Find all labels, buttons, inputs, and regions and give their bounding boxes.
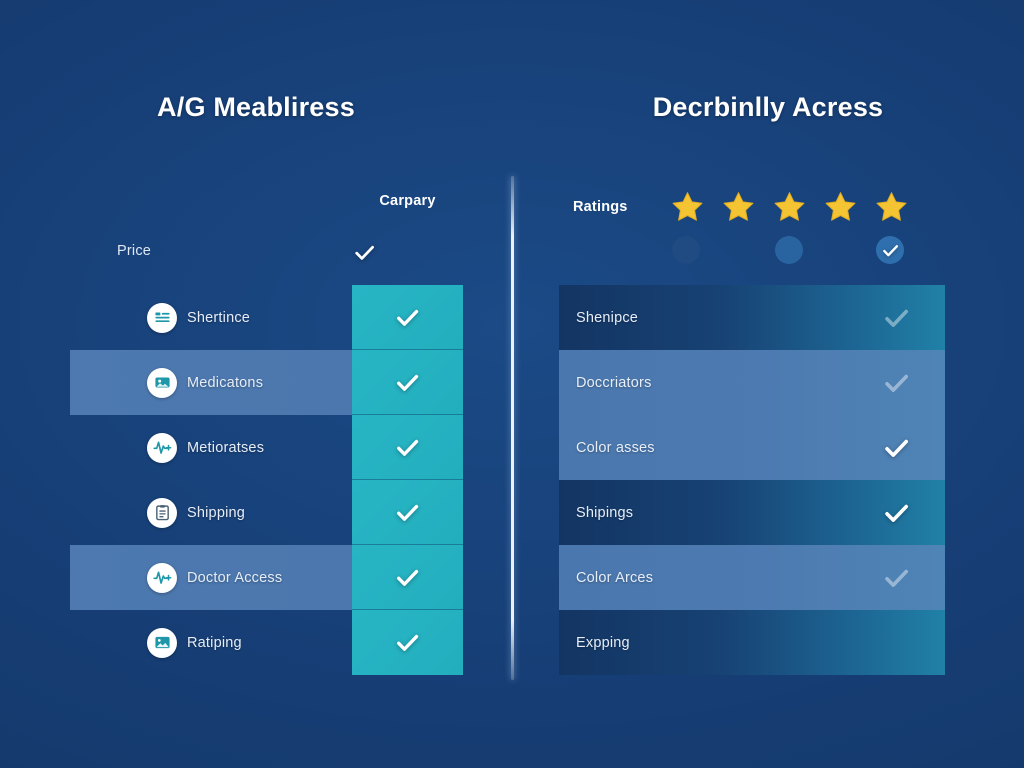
right-feature-row[interactable]: Doccriators bbox=[559, 350, 945, 415]
option-dots-row bbox=[672, 236, 922, 264]
right-feature-list: ShenipceDoccriatorsColor assesShipingsCo… bbox=[559, 285, 945, 675]
left-feature-check[interactable] bbox=[352, 350, 463, 415]
right-feature-check[interactable] bbox=[882, 303, 911, 332]
left-feature-check[interactable] bbox=[352, 415, 463, 480]
left-feature-row[interactable]: Shertince bbox=[70, 285, 463, 350]
heartbeat-icon bbox=[147, 563, 177, 593]
right-feature-label: Expping bbox=[576, 635, 630, 651]
right-feature-label: Color asses bbox=[576, 440, 655, 456]
right-feature-check[interactable] bbox=[882, 433, 911, 462]
left-feature-list: ShertinceMedicatonsMetioratsesShippingDo… bbox=[70, 285, 463, 675]
left-column-header-row: Carpary bbox=[70, 193, 463, 225]
right-feature-label: Shipings bbox=[576, 505, 633, 521]
star-rating[interactable] bbox=[670, 190, 909, 224]
left-feature-label: Metioratses bbox=[187, 440, 264, 456]
right-feature-label: Shenipce bbox=[576, 310, 638, 326]
left-feature-label: Ratiping bbox=[187, 635, 242, 651]
left-feature-check[interactable] bbox=[352, 285, 463, 350]
star-icon[interactable] bbox=[874, 190, 909, 224]
left-panel-title: A/G Meabliress bbox=[0, 92, 512, 123]
right-feature-check[interactable] bbox=[882, 368, 911, 397]
right-feature-row[interactable]: Shenipce bbox=[559, 285, 945, 350]
left-feature-label: Doctor Access bbox=[187, 570, 282, 586]
star-icon[interactable] bbox=[823, 190, 858, 224]
left-feature-check[interactable] bbox=[352, 610, 463, 675]
star-icon[interactable] bbox=[670, 190, 705, 224]
left-feature-row[interactable]: Medicatons bbox=[70, 350, 463, 415]
left-feature-row[interactable]: Shipping bbox=[70, 480, 463, 545]
clipboard-icon bbox=[147, 498, 177, 528]
price-row-label: Price bbox=[117, 243, 151, 259]
left-feature-row[interactable]: Metioratses bbox=[70, 415, 463, 480]
left-column-header-label: Carpary bbox=[352, 193, 463, 209]
left-feature-check[interactable] bbox=[352, 545, 463, 610]
chart-card-icon bbox=[147, 628, 177, 658]
heartbeat-icon bbox=[147, 433, 177, 463]
ratings-header-label: Ratings bbox=[573, 199, 628, 215]
document-lines-icon bbox=[147, 303, 177, 333]
right-feature-label: Color Arces bbox=[576, 570, 653, 586]
right-feature-check[interactable] bbox=[882, 628, 911, 657]
right-feature-row[interactable]: Color asses bbox=[559, 415, 945, 480]
right-feature-check[interactable] bbox=[882, 563, 911, 592]
right-panel-title: Decrbinlly Acress bbox=[512, 92, 1024, 123]
star-icon[interactable] bbox=[772, 190, 807, 224]
right-feature-row[interactable]: Color Arces bbox=[559, 545, 945, 610]
option-dot[interactable] bbox=[672, 236, 700, 264]
left-feature-row[interactable]: Doctor Access bbox=[70, 545, 463, 610]
left-feature-label: Medicatons bbox=[187, 375, 263, 391]
option-dot-selected[interactable] bbox=[876, 236, 904, 264]
left-feature-label: Shipping bbox=[187, 505, 245, 521]
price-row-check bbox=[352, 240, 463, 265]
left-feature-row[interactable]: Ratiping bbox=[70, 610, 463, 675]
right-feature-check[interactable] bbox=[882, 498, 911, 527]
right-feature-row[interactable]: Shipings bbox=[559, 480, 945, 545]
option-dot[interactable] bbox=[775, 236, 803, 264]
card-photo-icon bbox=[147, 368, 177, 398]
star-icon[interactable] bbox=[721, 190, 756, 224]
left-feature-check[interactable] bbox=[352, 480, 463, 545]
left-feature-label: Shertince bbox=[187, 310, 250, 326]
price-row[interactable]: Price bbox=[70, 240, 463, 272]
right-feature-row[interactable]: Expping bbox=[559, 610, 945, 675]
right-feature-label: Doccriators bbox=[576, 375, 652, 391]
